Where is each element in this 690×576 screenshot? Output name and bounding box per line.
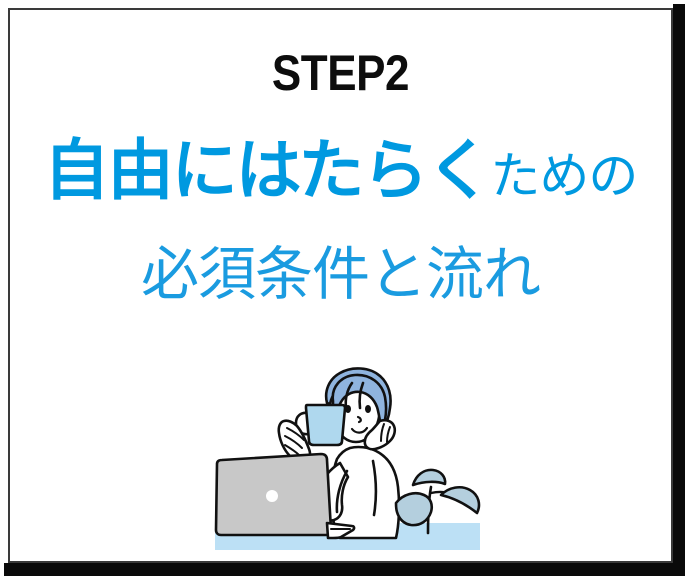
slide-shadow-bottom: [4, 563, 685, 576]
illustration-woman-with-coffee-at-laptop: [200, 365, 500, 560]
headline-line-1-suffix: ための: [490, 147, 637, 205]
plant-leaf-right: [441, 487, 479, 513]
headline-line-2: 必須条件と流れ: [10, 245, 671, 303]
step-label: STEP2: [50, 48, 632, 98]
slide-frame: STEP2 自由にはたらくための 必須条件と流れ: [0, 0, 690, 576]
mug-body: [306, 405, 345, 445]
laptop-logo-dot: [266, 490, 278, 502]
eye-right: [365, 405, 371, 413]
plant-leaf-top: [413, 470, 445, 485]
headline-line-1: 自由にはたらくための: [10, 138, 671, 204]
slide-canvas: STEP2 自由にはたらくための 必須条件と流れ: [8, 8, 673, 563]
headline-line-1-main: 自由にはたらく: [44, 132, 491, 209]
plant-leaf-left: [396, 493, 432, 525]
slide-shadow-right: [673, 4, 685, 576]
